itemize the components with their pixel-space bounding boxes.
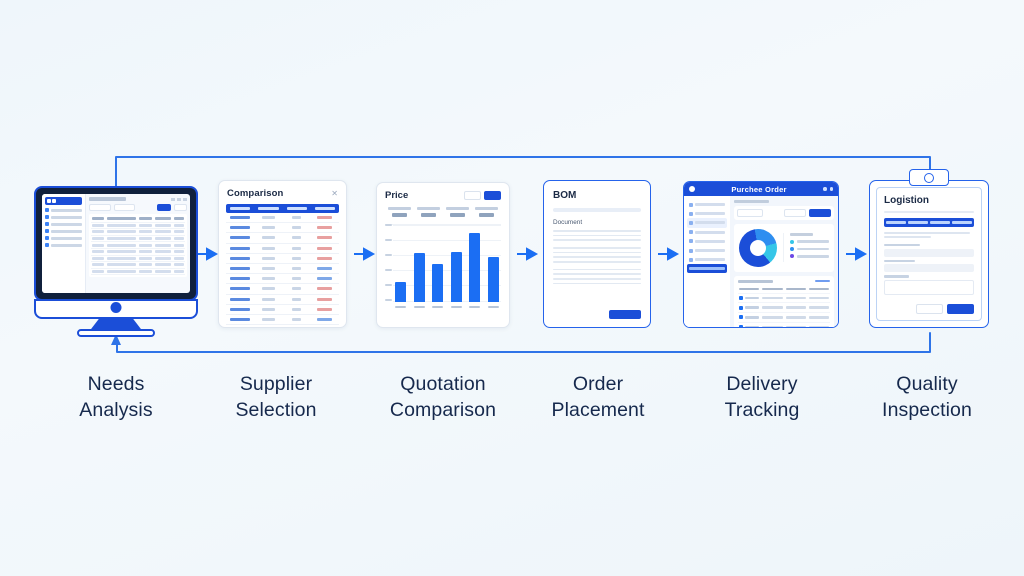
table-row[interactable] [91,223,185,230]
table-row[interactable] [226,233,339,243]
price-bar-chart-plot [385,224,501,302]
stage-mockup-logistics-clipboard[interactable]: Logistion [869,180,989,328]
stage-label-quotation-comparison: Quotation Comparison [358,372,528,424]
arrow-stage-2-to-3 [354,249,373,259]
legend-item[interactable] [790,240,829,244]
table-toolbar [738,280,830,283]
view-toggle-group[interactable] [464,191,501,200]
primary-action-button[interactable] [157,204,172,211]
form-actions[interactable] [884,299,974,314]
stat-item [443,207,472,217]
column-header [311,204,339,213]
stage-label-order-placement: Order Placement [514,372,682,424]
purchase-order-title: Purchee Order [695,185,823,194]
sidebar-item[interactable] [45,215,82,219]
logistics-title: Logistion [884,195,974,206]
bar-c1[interactable] [395,282,406,302]
table-row[interactable] [91,262,185,269]
sidebar-item[interactable] [687,200,727,209]
bar-series [395,225,499,302]
form-field[interactable] [884,275,974,295]
stage-mockup-comparison-table[interactable]: Comparison ✕ [218,180,347,328]
table-row[interactable] [226,284,339,294]
bom-title: BOM [553,190,641,201]
monitor-screen [42,194,190,293]
bar-c5[interactable] [469,233,480,301]
workflow-diagram: Comparison ✕ [0,0,1024,576]
sidebar-item[interactable] [687,255,727,264]
sidebar-item[interactable] [45,236,82,240]
table-row[interactable] [226,295,339,305]
arrow-stage-3-to-4 [517,249,536,259]
bom-line-placeholders [553,230,641,287]
toggle-chart-view[interactable] [464,191,481,200]
sidebar-item[interactable] [45,243,82,247]
stage-mockup-price-bar-chart[interactable]: Price [376,182,510,328]
bom-divider [553,208,641,212]
donut-legend [783,233,829,262]
bar-c6[interactable] [488,257,499,302]
purchase-order-titlebar: Purchee Order [684,182,838,196]
price-title: Price [385,190,408,201]
sidebar-item[interactable] [45,208,82,212]
comparison-table [219,204,346,328]
table-row[interactable] [226,254,339,264]
table-row[interactable] [738,294,830,304]
legend-item[interactable] [790,254,829,258]
donut-chart-card [734,224,834,272]
stage-label-supplier-selection: Supplier Selection [193,372,359,424]
clipboard-clip-icon [909,169,949,186]
column-header [226,204,254,213]
sidebar-item-active[interactable] [687,264,727,272]
arrow-stage-1-to-2 [196,249,216,259]
comparison-title: Comparison [227,188,283,199]
sidebar-item[interactable] [687,237,727,246]
stat-item [414,207,443,217]
stage-label-quality-inspection: Quality Inspection [842,372,1012,424]
monitor-base-foot [77,329,155,337]
toggle-table-view[interactable] [484,191,501,200]
purchase-order-main [730,196,838,327]
column-header [283,204,311,213]
table-row[interactable] [91,229,185,236]
stage-mockup-purchase-order-app[interactable]: Purchee Order [683,181,839,328]
table-header-row [738,286,830,294]
window-controls[interactable] [171,198,187,201]
monitor-power-dot [111,302,122,313]
bom-submit-button[interactable] [609,310,641,319]
x-tick-c2 [414,306,425,309]
window-controls[interactable] [823,187,833,191]
stat-item [472,207,501,217]
dashboard-sidebar[interactable] [42,194,86,293]
dashboard-table [89,214,187,277]
table-row[interactable] [226,274,339,284]
feedback-loop-bottom [117,333,930,352]
bar-c2[interactable] [414,253,425,301]
sidebar-item[interactable] [45,229,82,233]
section-label [734,200,769,203]
dashboard-title-placeholder [89,197,126,201]
column-header [254,204,282,213]
secondary-action-button[interactable] [174,204,187,211]
bar-c4[interactable] [451,252,462,302]
donut-chart[interactable] [739,229,777,267]
table-row[interactable] [91,256,185,263]
table-row[interactable] [226,223,339,233]
purchase-order-table [734,276,834,328]
x-tick-c6 [488,306,499,309]
table-row[interactable] [91,269,185,276]
sidebar-item[interactable] [45,222,82,226]
x-tick-c1 [395,306,406,309]
tab-item[interactable] [908,221,928,224]
sidebar-item[interactable] [687,228,727,237]
filter-toolbar[interactable] [734,206,834,220]
arrow-stage-4-to-5 [658,249,677,259]
monitor-stand [34,299,198,329]
filter-dropdown[interactable] [737,209,763,217]
bar-c3[interactable] [432,264,443,301]
cancel-button[interactable] [916,304,943,314]
sidebar-logo [45,197,82,205]
logistics-tab-bar[interactable] [884,218,974,227]
sidebar-item[interactable] [687,246,727,255]
table-row[interactable] [91,236,185,243]
tab-item[interactable] [952,221,972,224]
secondary-button[interactable] [784,209,806,217]
title-divider [884,211,974,213]
tab-item[interactable] [930,221,950,224]
price-header: Price [377,183,509,203]
bom-subtitle: Document [553,219,641,226]
table-row[interactable] [91,249,185,256]
comparison-header: Comparison ✕ [219,181,346,204]
stage-mockup-dashboard-monitor[interactable] [34,186,198,301]
x-tick-c5 [469,306,480,309]
close-icon[interactable]: ✕ [331,190,338,198]
monitor-bezel [34,186,198,301]
stage-label-delivery-tracking: Delivery Tracking [678,372,846,424]
stage-label-needs-analysis: Needs Analysis [33,372,199,424]
arrow-stage-5-to-6 [846,249,865,259]
table-row[interactable] [738,323,830,328]
clipboard-board: Logistion [869,180,989,328]
table-row[interactable] [226,315,339,325]
dashboard-main [86,194,190,293]
table-row[interactable] [226,264,339,274]
price-stat-row [377,203,509,219]
primary-button[interactable] [809,209,831,217]
description-placeholder [884,232,974,241]
sidebar-item-selected[interactable] [687,218,727,227]
sidebar-item[interactable] [687,209,727,218]
purchase-order-sidebar[interactable] [684,196,730,327]
table-row[interactable] [226,244,339,254]
form-field[interactable] [884,244,974,257]
clipboard-sheet: Logistion [876,187,982,321]
x-tick-c3 [432,306,443,309]
stage-mockup-bom-document[interactable]: BOM Document [543,180,651,328]
table-row[interactable] [91,242,185,249]
form-field[interactable] [884,260,974,273]
tab-item[interactable] [886,221,906,224]
table-row[interactable] [226,305,339,315]
x-axis-labels [395,306,499,309]
submit-button[interactable] [947,304,974,314]
filter-select[interactable] [114,204,135,211]
x-tick-c4 [451,306,462,309]
table-row[interactable] [738,303,830,313]
table-header-row [91,216,185,223]
table-header-row [226,204,339,213]
table-row[interactable] [226,213,339,223]
table-title-placeholder [738,280,773,283]
filter-select[interactable] [89,204,110,211]
legend-item[interactable] [790,247,829,251]
table-row[interactable] [738,313,830,323]
dashboard-filter-bar[interactable] [89,204,187,211]
table-link-action[interactable] [815,280,830,283]
dashboard-header [89,197,187,201]
stat-item [385,207,414,217]
